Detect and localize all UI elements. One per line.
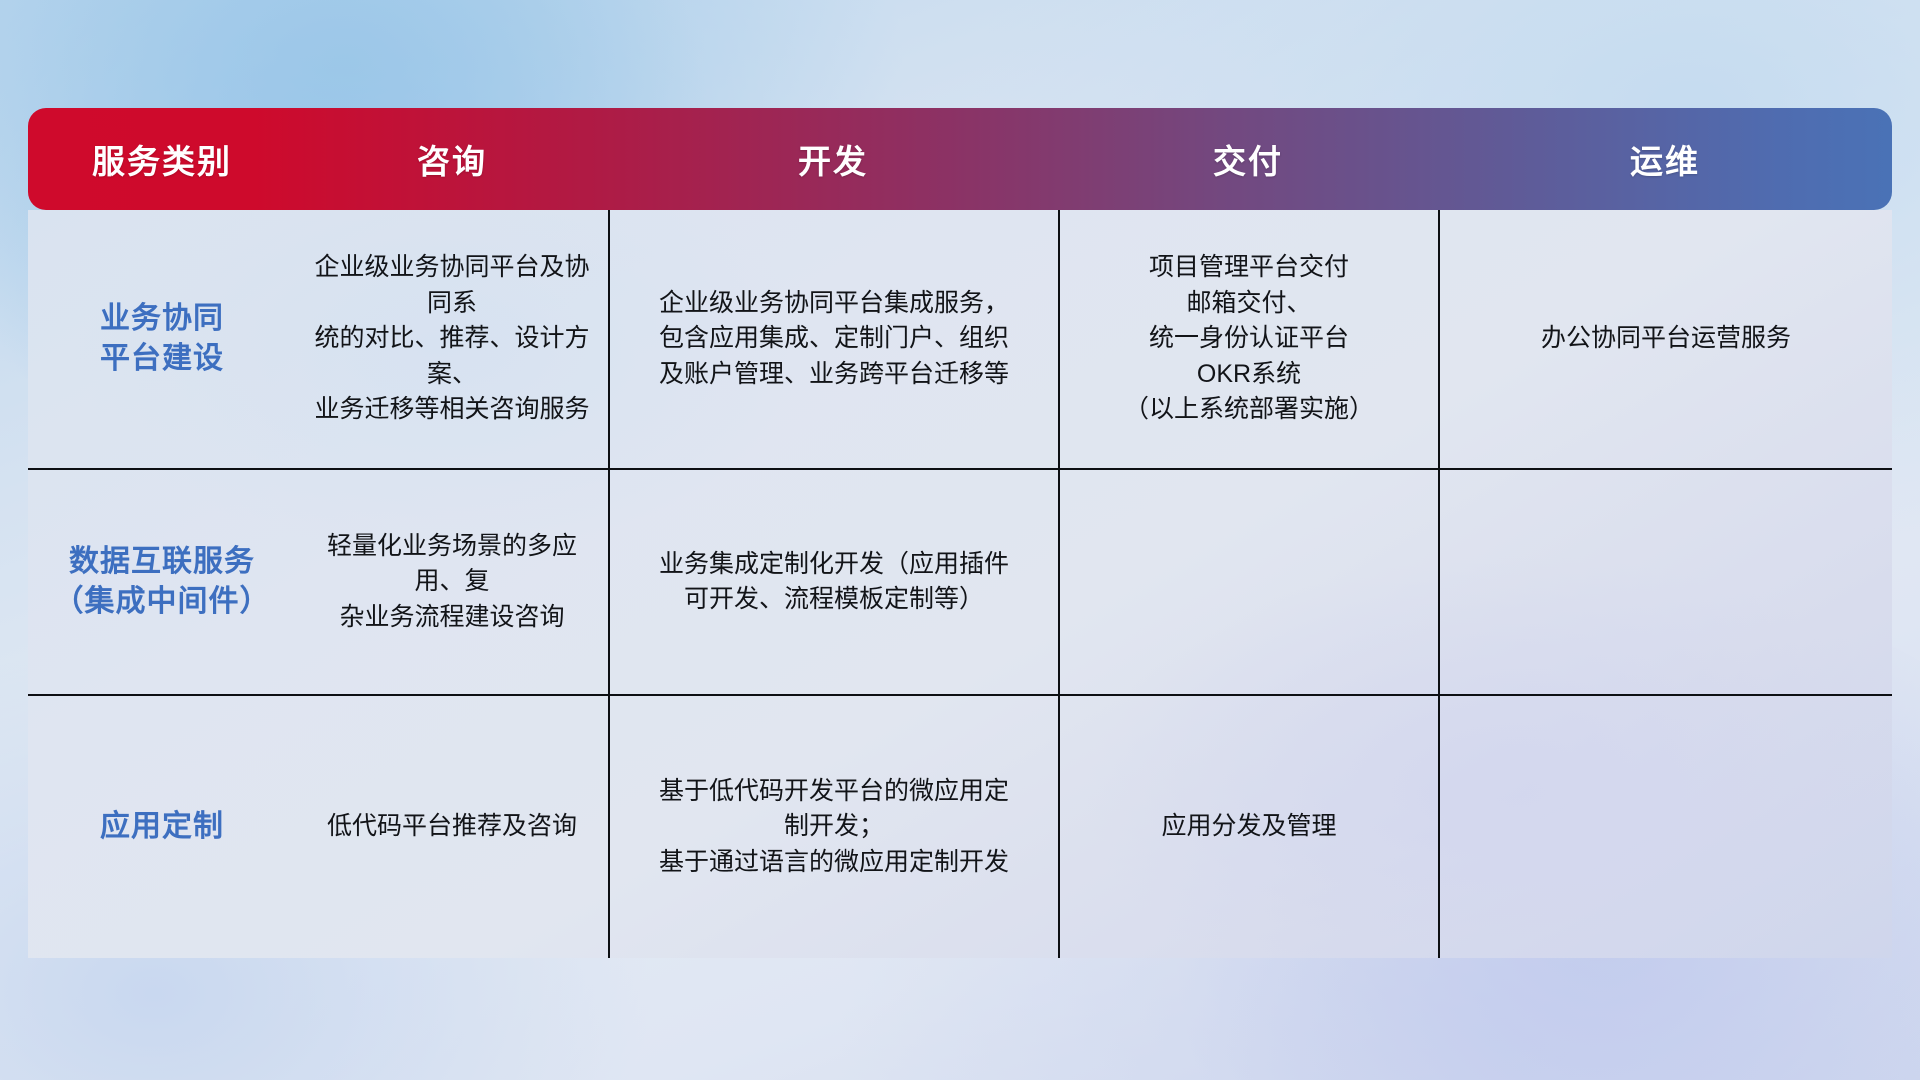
table-body: 业务协同 平台建设 企业级业务协同平台及协同系 统的对比、推荐、设计方案、 业务… bbox=[28, 210, 1892, 958]
cell-delivery: 应用分发及管理 bbox=[1058, 696, 1438, 958]
table-row: 业务协同 平台建设 企业级业务协同平台及协同系 统的对比、推荐、设计方案、 业务… bbox=[28, 210, 1892, 468]
cell-operations bbox=[1438, 470, 1892, 694]
row-category-label: 业务协同 平台建设 bbox=[28, 210, 296, 468]
cell-delivery: 项目管理平台交付 邮箱交付、 统一身份认证平台 OKR系统 （以上系统部署实施） bbox=[1058, 210, 1438, 468]
cell-consulting: 企业级业务协同平台及协同系 统的对比、推荐、设计方案、 业务迁移等相关咨询服务 bbox=[296, 210, 608, 468]
table-header-cell-category: 服务类别 bbox=[28, 108, 296, 210]
table-header-cell-delivery: 交付 bbox=[1058, 108, 1438, 210]
cell-consulting: 低代码平台推荐及咨询 bbox=[296, 696, 608, 958]
table-header-cell-consulting: 咨询 bbox=[296, 108, 608, 210]
table-row: 数据互联服务 （集成中间件） 轻量化业务场景的多应用、复 杂业务流程建设咨询 业… bbox=[28, 468, 1892, 694]
table-row: 应用定制 低代码平台推荐及咨询 基于低代码开发平台的微应用定 制开发； 基于通过… bbox=[28, 694, 1892, 958]
row-category-label: 数据互联服务 （集成中间件） bbox=[28, 470, 296, 694]
cell-delivery bbox=[1058, 470, 1438, 694]
table-header-row: 服务类别 咨询 开发 交付 运维 bbox=[28, 108, 1892, 210]
slide-canvas: 服务类别 咨询 开发 交付 运维 业务协同 平台建设 企业级业务协同平台及协同系… bbox=[0, 0, 1920, 1080]
cell-consulting: 轻量化业务场景的多应用、复 杂业务流程建设咨询 bbox=[296, 470, 608, 694]
service-matrix-table: 服务类别 咨询 开发 交付 运维 业务协同 平台建设 企业级业务协同平台及协同系… bbox=[28, 108, 1892, 958]
cell-operations: 办公协同平台运营服务 bbox=[1438, 210, 1892, 468]
row-category-label: 应用定制 bbox=[28, 696, 296, 958]
cell-development: 业务集成定制化开发（应用插件 可开发、流程模板定制等） bbox=[608, 470, 1058, 694]
table-header-cell-development: 开发 bbox=[608, 108, 1058, 210]
cell-development: 基于低代码开发平台的微应用定 制开发； 基于通过语言的微应用定制开发 bbox=[608, 696, 1058, 958]
table-header-cell-operations: 运维 bbox=[1438, 108, 1892, 210]
cell-operations bbox=[1438, 696, 1892, 958]
cell-development: 企业级业务协同平台集成服务， 包含应用集成、定制门户、组织 及账户管理、业务跨平… bbox=[608, 210, 1058, 468]
